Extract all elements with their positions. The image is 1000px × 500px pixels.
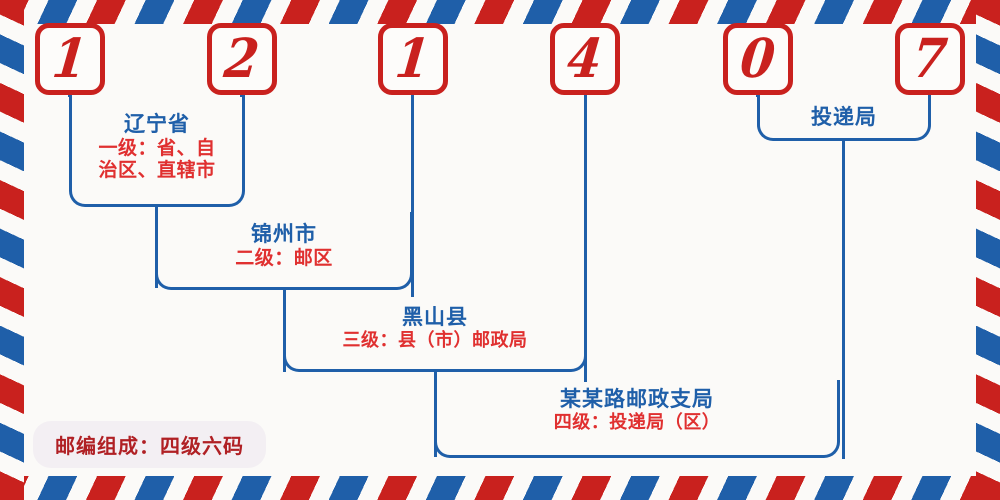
digit-box-4[interactable]: 4 — [550, 23, 620, 95]
label-level-1: 辽宁省 一级：省、自 治区、直辖市 — [69, 112, 245, 182]
label-level-4-sub-line1: 四级：投递局（区） — [434, 412, 840, 433]
digit-glyph-1: 1 — [50, 32, 90, 86]
digit-box-1[interactable]: 1 — [35, 23, 105, 95]
legend-badge: 邮编组成：四级六码 — [33, 421, 266, 468]
airmail-border-top — [0, 0, 1000, 24]
label-delivery-office: 投递局 — [757, 105, 931, 130]
stem-digit-4 — [584, 95, 587, 382]
label-level-2-sub-line1: 二级：邮区 — [155, 247, 413, 269]
label-level-2: 锦州市 二级：邮区 — [155, 222, 413, 269]
legend-badge-text: 邮编组成：四级六码 — [55, 434, 244, 458]
airmail-border-right — [976, 0, 1000, 500]
connector-delivery-office-down — [842, 139, 845, 459]
digit-glyph-6: 7 — [910, 32, 950, 86]
stem-digit-3 — [411, 95, 414, 297]
stem-digit-6 — [928, 95, 931, 97]
label-delivery-office-title: 投递局 — [757, 105, 931, 130]
label-level-4-title: 某某路邮政支局 — [434, 387, 840, 412]
label-level-2-title: 锦州市 — [155, 222, 413, 247]
label-level-3-title: 黑山县 — [283, 305, 587, 330]
digit-glyph-4: 4 — [565, 32, 605, 86]
airmail-border-left — [0, 0, 24, 500]
digit-box-6[interactable]: 7 — [895, 23, 965, 95]
digit-box-3[interactable]: 1 — [378, 23, 448, 95]
airmail-border-bottom — [0, 476, 1000, 500]
label-level-3: 黑山县 三级：县（市）邮政局 — [283, 305, 587, 351]
digit-box-2[interactable]: 2 — [207, 23, 277, 95]
label-level-1-title: 辽宁省 — [69, 112, 245, 137]
label-level-4: 某某路邮政支局 四级：投递局（区） — [434, 387, 840, 433]
stem-digit-5 — [756, 95, 759, 97]
label-level-1-sub-line2: 治区、直辖市 — [69, 159, 245, 181]
stem-digit-2 — [240, 95, 243, 97]
stem-digit-1 — [68, 95, 71, 97]
digit-glyph-5: 0 — [738, 32, 778, 86]
digit-box-5[interactable]: 0 — [723, 23, 793, 95]
label-level-3-sub-line1: 三级：县（市）邮政局 — [283, 330, 587, 351]
envelope-postcode-diagram: 1 2 1 4 0 7 辽宁省 一级：省、自 治区、直辖市 锦州市 二级：邮区 … — [0, 0, 1000, 500]
label-level-1-sub-line1: 一级：省、自 — [69, 137, 245, 159]
digit-glyph-2: 2 — [222, 32, 262, 86]
digit-glyph-3: 1 — [393, 32, 433, 86]
